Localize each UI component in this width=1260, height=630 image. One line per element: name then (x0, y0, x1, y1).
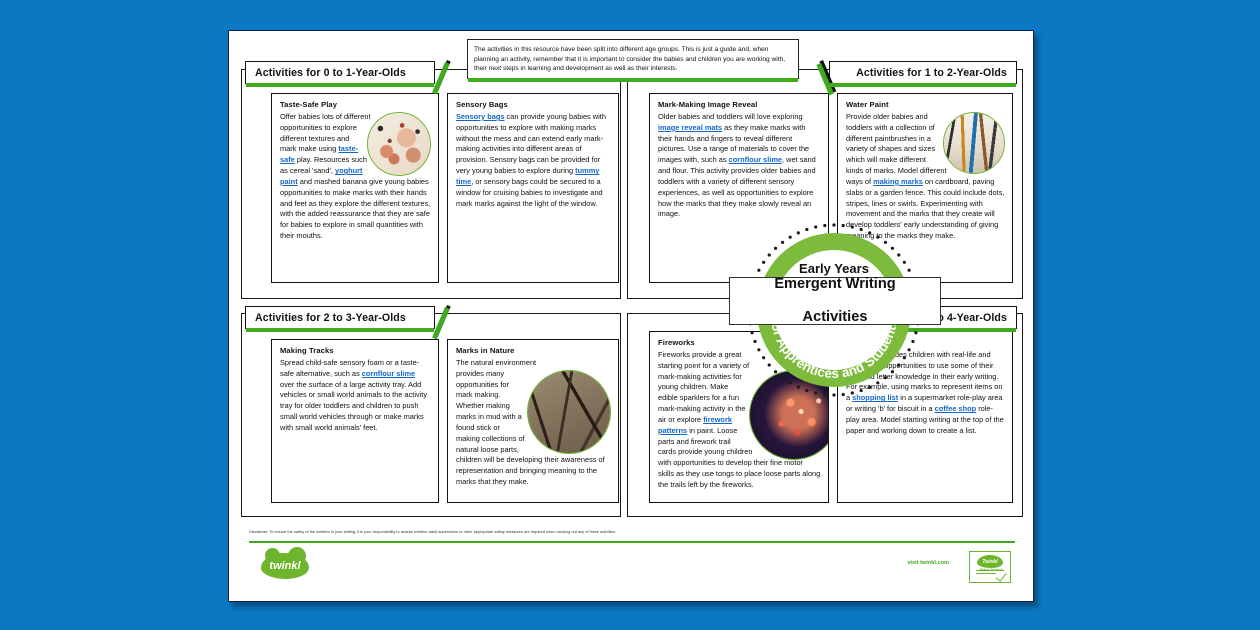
card-title: Sensory Bags (456, 100, 611, 109)
card-body: Sensory bags can provide young babies wi… (456, 112, 611, 209)
twinkl-rated-trusted-badge: Twinkl Rated Trusted (969, 551, 1011, 583)
resource-link[interactable]: Sensory bags (456, 112, 504, 121)
section-tab-age-0-1: Activities for 0 to 1-Year-Olds (245, 61, 435, 84)
section-tab-label: Activities for 0 to 1-Year-Olds (255, 67, 406, 79)
activity-card-making-tracks: Making Tracks Spread child-safe sensory … (271, 339, 439, 503)
section-tab-age-1-2: Activities for 1 to 2-Year-Olds (829, 61, 1017, 84)
card-title: Water Paint (846, 100, 1005, 109)
resource-link[interactable]: firework patterns (658, 415, 732, 435)
activity-card-taste-safe-play: Taste-Safe Play Offer babies lots of dif… (271, 93, 439, 283)
footer-disclaimer: Disclaimer: To ensure the safety of the … (249, 529, 1015, 535)
section-tab-age-2-3: Activities for 2 to 3-Year-Olds (245, 306, 435, 329)
activity-card-sensory-bags: Sensory Bags Sensory bags can provide yo… (447, 93, 619, 283)
intro-info-text: The activities in this resource have bee… (474, 45, 792, 74)
resource-link[interactable]: coffee shop (935, 404, 976, 413)
resource-link[interactable]: cornflour slime (362, 369, 415, 378)
card-title: Making Tracks (280, 346, 431, 355)
resource-link[interactable]: yoghurt paint (280, 166, 363, 186)
footer-divider (249, 541, 1015, 543)
tab-underline (246, 328, 434, 332)
resource-link[interactable]: cornflour slime (729, 155, 782, 164)
card-title: Marks in Nature (456, 346, 611, 355)
badge-title-line1: Emergent Writing (774, 276, 895, 292)
card-title: Taste-Safe Play (280, 100, 431, 109)
card-body: Spread child-safe sensory foam or a tast… (280, 358, 431, 434)
twinkl-logo-text: twinkl (261, 553, 309, 579)
intro-info-box: The activities in this resource have bee… (467, 39, 799, 79)
activity-card-marks-in-nature: Marks in Nature The natural environment … (447, 339, 619, 503)
mud-with-mark-making-lines-photo (527, 370, 611, 454)
paintbrushes-photo (943, 112, 1005, 174)
visit-twinkl-link[interactable]: visit twinkl.com (907, 560, 949, 566)
svg-text:for Apprentices and Students: for Apprentices and Students (768, 318, 900, 381)
card-body: Older babies and toddlers will love expl… (658, 112, 821, 220)
resource-page: Activities for 0 to 1-Year-Olds Activiti… (228, 30, 1034, 602)
badge-title-box: Emergent Writing Activities (729, 277, 941, 325)
tab-underline (246, 83, 434, 87)
resource-link[interactable]: taste-safe (280, 144, 358, 164)
twinkl-logo: twinkl (261, 553, 309, 579)
badge-title-top: Early Years (758, 261, 910, 276)
section-tab-label: Activities for 1 to 2-Year-Olds (856, 67, 1007, 79)
screenshot-stage: Activities for 0 to 1-Year-Olds Activiti… (0, 0, 1260, 630)
hands-in-taste-safe-sensory-tray-photo (367, 112, 431, 176)
resource-link[interactable]: tummy time (456, 166, 599, 186)
card-title: Mark-Making Image Reveal (658, 100, 821, 109)
badge-title-line2: Activities (774, 309, 895, 325)
resource-link[interactable]: making marks (873, 177, 923, 186)
tab-underline (830, 83, 1016, 87)
center-title-badge: for Apprentices and Students Early Years… (738, 219, 970, 399)
cert-brand-text: Twinkl (977, 555, 1003, 568)
resource-link[interactable]: image reveal mats (658, 123, 722, 132)
section-tab-label: Activities for 2 to 3-Year-Olds (255, 312, 406, 324)
badge-arc-label: for Apprentices and Students (768, 318, 900, 381)
